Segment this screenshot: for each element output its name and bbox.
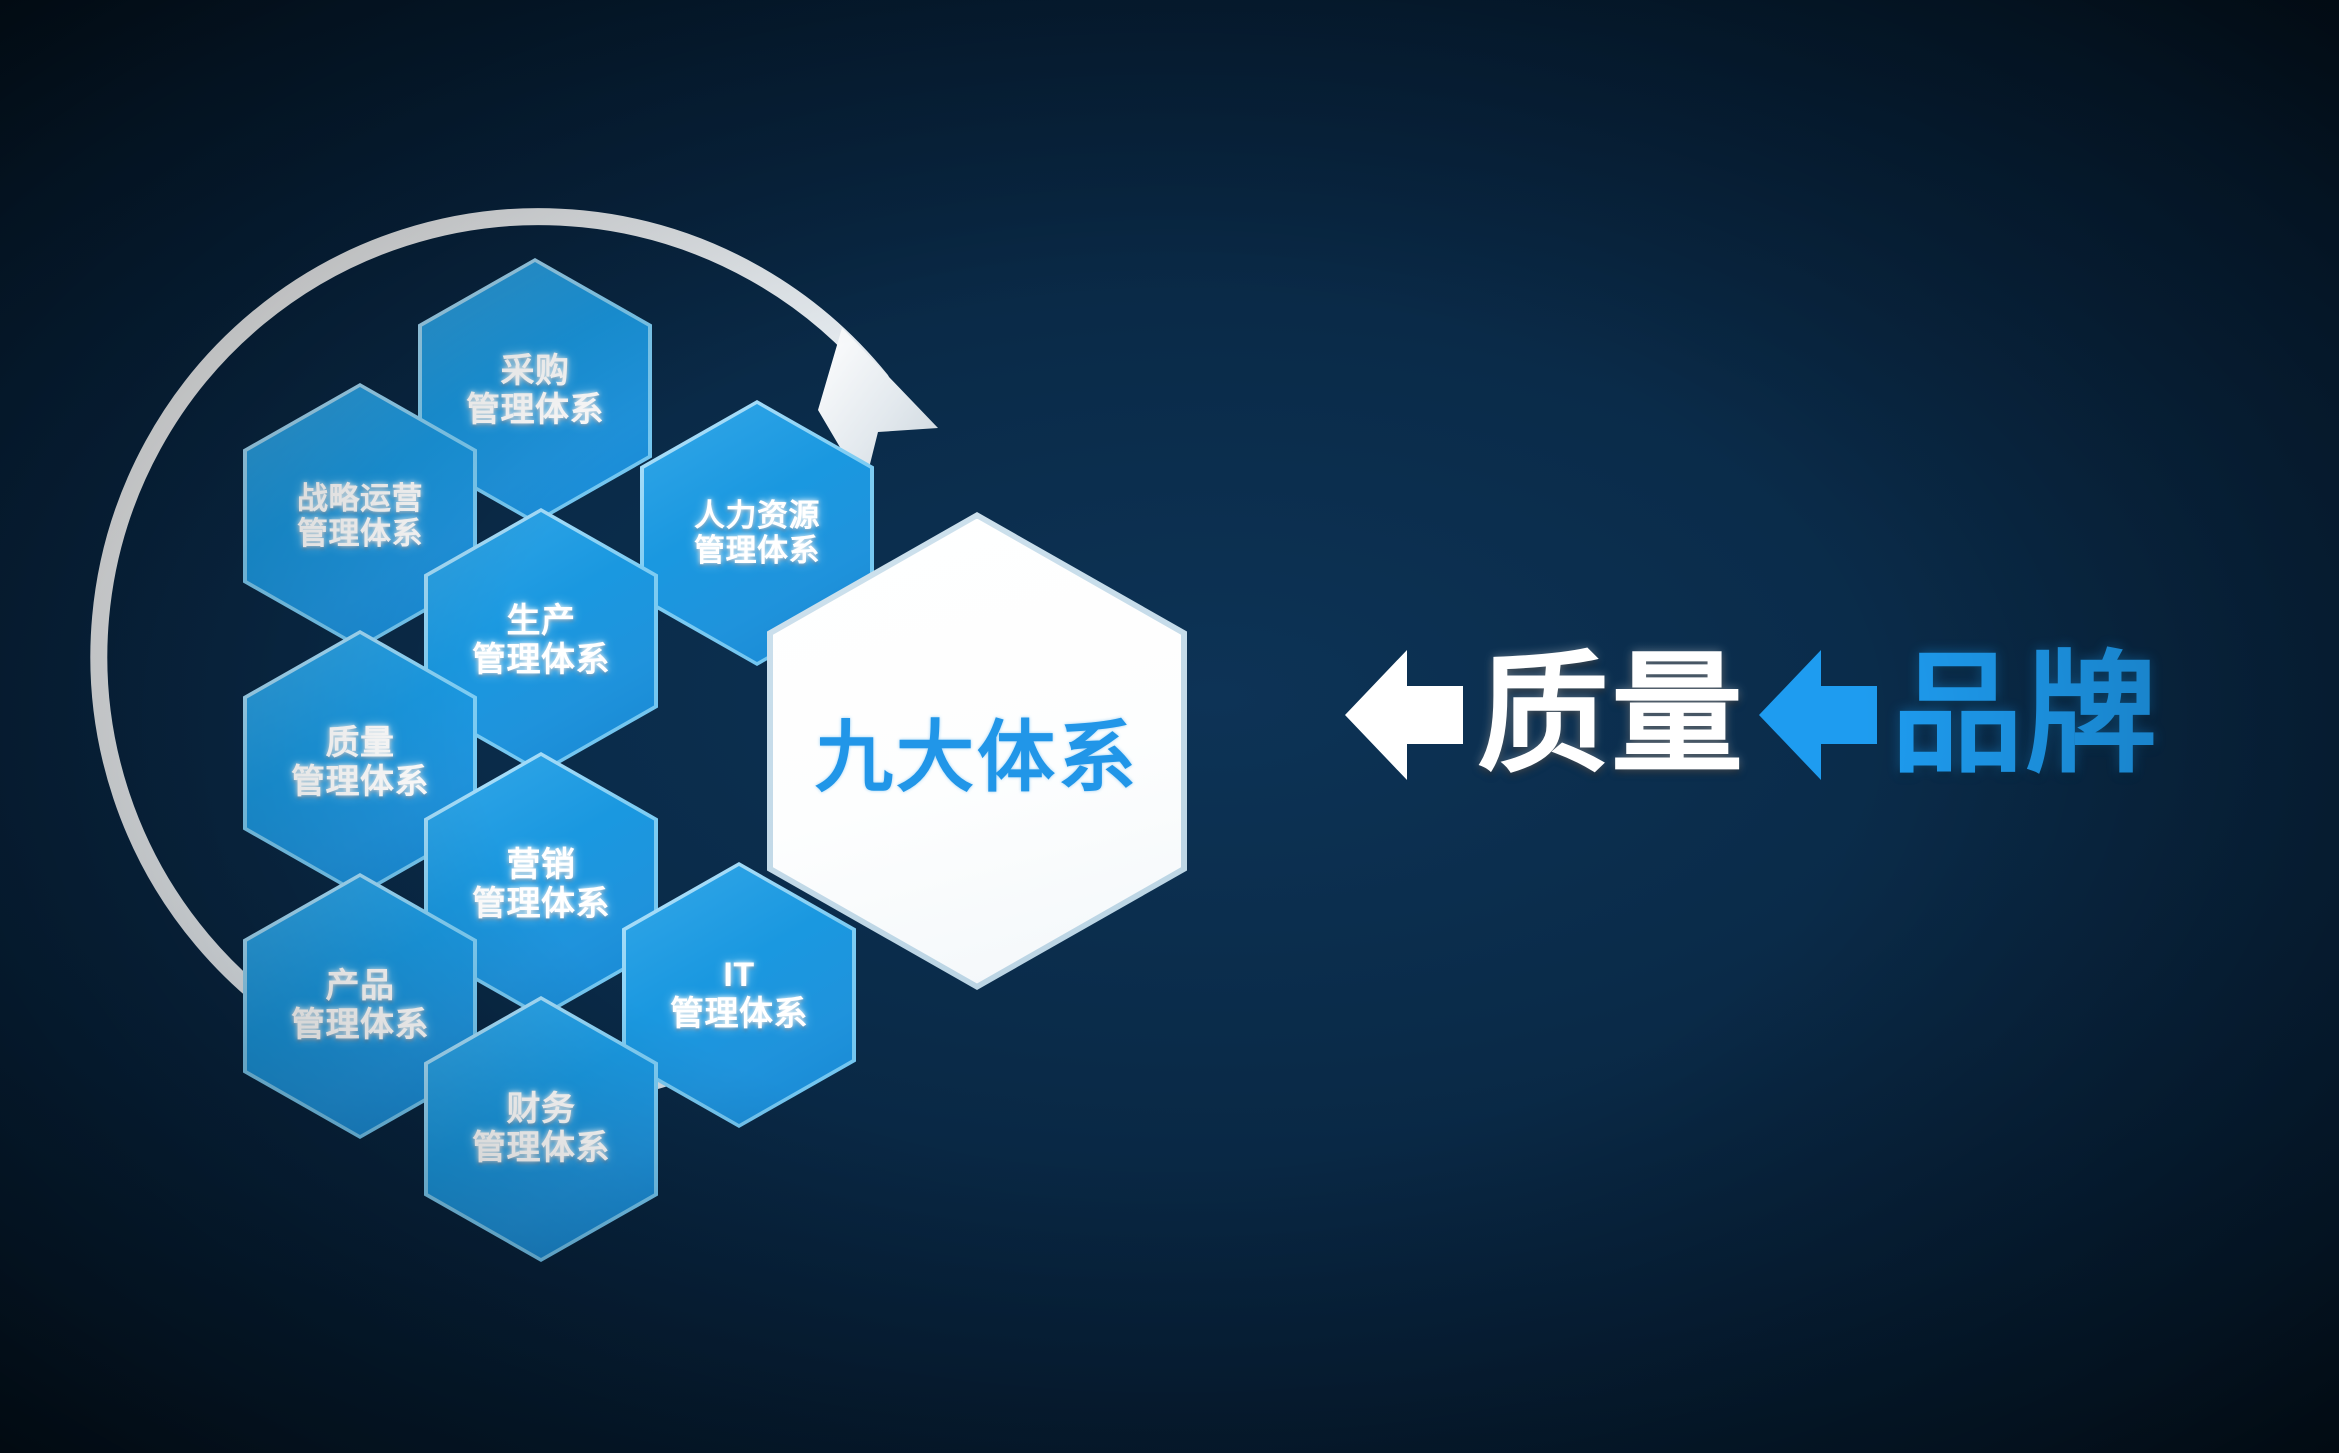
- hexagon-label: 质量 管理体系: [283, 724, 437, 802]
- hexagon-label: 生产 管理体系: [464, 602, 618, 680]
- center-hexagon-label: 九大体系: [815, 695, 1139, 807]
- flow-word-quality: 质量: [1477, 649, 1745, 781]
- hexagon-label: 采购 管理体系: [458, 352, 612, 430]
- hexagon-label: 战略运营 管理体系: [289, 481, 431, 552]
- hexagon-label: 产品 管理体系: [283, 967, 437, 1045]
- hexagon-label: 营销 管理体系: [464, 846, 618, 924]
- slide-canvas: 采购 管理体系 战略运营 管理体系 人力资源 管理体系 生产 管理体系 质量 管…: [0, 0, 2339, 1453]
- hexagon-label: 人力资源 管理体系: [686, 498, 828, 569]
- flow-sequence: 质量 品牌: [1345, 640, 2159, 790]
- hexagon-label: IT 管理体系: [662, 956, 816, 1034]
- flow-word-brand: 品牌: [1891, 649, 2159, 781]
- left-arrow-icon-blue: [1759, 640, 1877, 790]
- hexagon-label: 财务 管理体系: [464, 1090, 618, 1168]
- left-arrow-icon-white: [1345, 640, 1463, 790]
